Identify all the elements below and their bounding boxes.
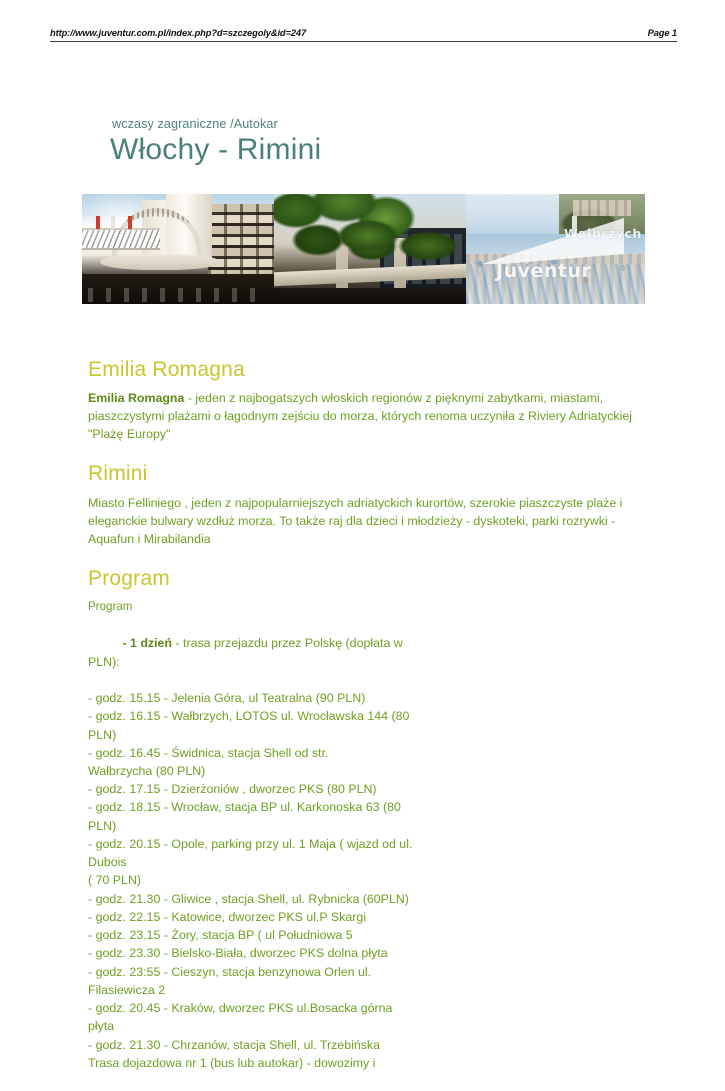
program-line: - godz. 21.30 - Chrzanów, stacja Shell, … xyxy=(88,1036,428,1054)
program-line: Dubois xyxy=(88,853,428,871)
photo-banner: HOTEL CALEDONIA ★★★ Wałbrzych Juventur xyxy=(82,194,645,304)
program-line: - godz. 23.15 - Żory, stacja BP ( ul Poł… xyxy=(88,926,428,944)
flag-icon xyxy=(96,216,100,229)
program-line: Filasiewicza 2 xyxy=(88,981,428,999)
watermark-juventur-text: Juventur xyxy=(496,260,591,282)
flag-icon xyxy=(128,216,132,229)
juventur-logo-watermark: Wałbrzych Juventur xyxy=(472,202,645,294)
section-lead-emilia-romagna: Emilia Romagna xyxy=(88,391,184,405)
section-emilia-romagna: Emilia Romagna Emilia Romagna - jeden z … xyxy=(88,358,668,443)
program-line: - godz. 20.15 - Opole, parking przy ul. … xyxy=(88,835,428,853)
program-line: - godz. 15.15 - Jelenia Góra, ul Teatral… xyxy=(88,689,428,707)
page-number: Page 1 xyxy=(648,28,677,38)
ground-floor-shade xyxy=(82,274,274,304)
section-text-emilia-romagna: Emilia Romagna - jeden z najbogatszych w… xyxy=(88,389,658,443)
program-subheading: Program xyxy=(88,598,428,615)
section-heading-emilia-romagna: Emilia Romagna xyxy=(88,358,668,382)
section-heading-rimini: Rimini xyxy=(88,462,668,486)
hotel-architecture-photo xyxy=(82,194,274,304)
program-day-line: - 1 dzień - trasa przejazdu przez Polskę… xyxy=(88,616,428,689)
program-line: - godz. 17.15 - Dzierżoniów , dworzec PK… xyxy=(88,780,428,798)
program-line: - godz. 23:55 - Cieszyn, stacja benzynow… xyxy=(88,963,428,981)
section-program: Program Program - 1 dzień - trasa przeja… xyxy=(88,567,668,1072)
program-line: ( 70 PLN) xyxy=(88,871,428,889)
breadcrumb-kicker: wczasy zagraniczne /Autokar xyxy=(112,117,278,131)
program-line: PLN) xyxy=(88,726,428,744)
print-header: http://www.juventur.com.pl/index.php?d=s… xyxy=(50,28,677,42)
program-line: Trasa dojazdowa nr 1 (bus lub autokar) -… xyxy=(88,1054,428,1072)
section-text-rimini: Miasto Felliniego , jeden z najpopularni… xyxy=(88,494,658,548)
program-line: płyta xyxy=(88,1017,428,1035)
program-line: Wałbrzycha (80 PLN) xyxy=(88,762,428,780)
pine-tree-shape xyxy=(334,220,464,276)
program-line: - godz. 23.30 - Bielsko-Biała, dworzec P… xyxy=(88,944,428,962)
section-rimini: Rimini Miasto Felliniego , jeden z najpo… xyxy=(88,462,668,547)
program-stop-lines: - godz. 15.15 - Jelenia Góra, ul Teatral… xyxy=(88,689,428,1072)
program-line: - godz. 16.15 - Wałbrzych, LOTOS ul. Wro… xyxy=(88,707,428,725)
terrace-railing-shape xyxy=(82,228,160,250)
printed-web-page: http://www.juventur.com.pl/index.php?d=s… xyxy=(0,0,725,1024)
watermark-walbrzych-text: Wałbrzych xyxy=(564,226,642,241)
program-line: - godz. 20.45 - Kraków, dworzec PKS ul.B… xyxy=(88,999,428,1017)
hotel-caledonia-photo: HOTEL CALEDONIA ★★★ xyxy=(274,194,466,304)
program-line: PLN) xyxy=(88,817,428,835)
program-list: Program - 1 dzień - trasa przejazdu prze… xyxy=(88,598,428,1072)
beach-photo: Wałbrzych Juventur xyxy=(466,194,645,304)
canopy-shape xyxy=(100,254,220,270)
program-day-label: - 1 dzień xyxy=(122,636,172,650)
street-shade xyxy=(274,288,466,304)
page-url: http://www.juventur.com.pl/index.php?d=s… xyxy=(50,28,306,38)
program-line: - godz. 21.30 - Gliwice , stacja Shell, … xyxy=(88,890,428,908)
article-body: Emilia Romagna Emilia Romagna - jeden z … xyxy=(88,358,668,1091)
hotel-sign-text: HOTEL xyxy=(370,270,400,278)
program-line: - godz. 22.15 - Katowice, dworzec PKS ul… xyxy=(88,908,428,926)
program-line: - godz. 18.15 - Wrocław, stacja BP ul. K… xyxy=(88,798,428,816)
program-line: - godz. 16.45 - Świdnica, stacja Shell o… xyxy=(88,744,428,762)
flag-icon xyxy=(111,216,115,229)
section-heading-program: Program xyxy=(88,567,668,591)
page-title: Włochy - Rimini xyxy=(110,131,321,169)
